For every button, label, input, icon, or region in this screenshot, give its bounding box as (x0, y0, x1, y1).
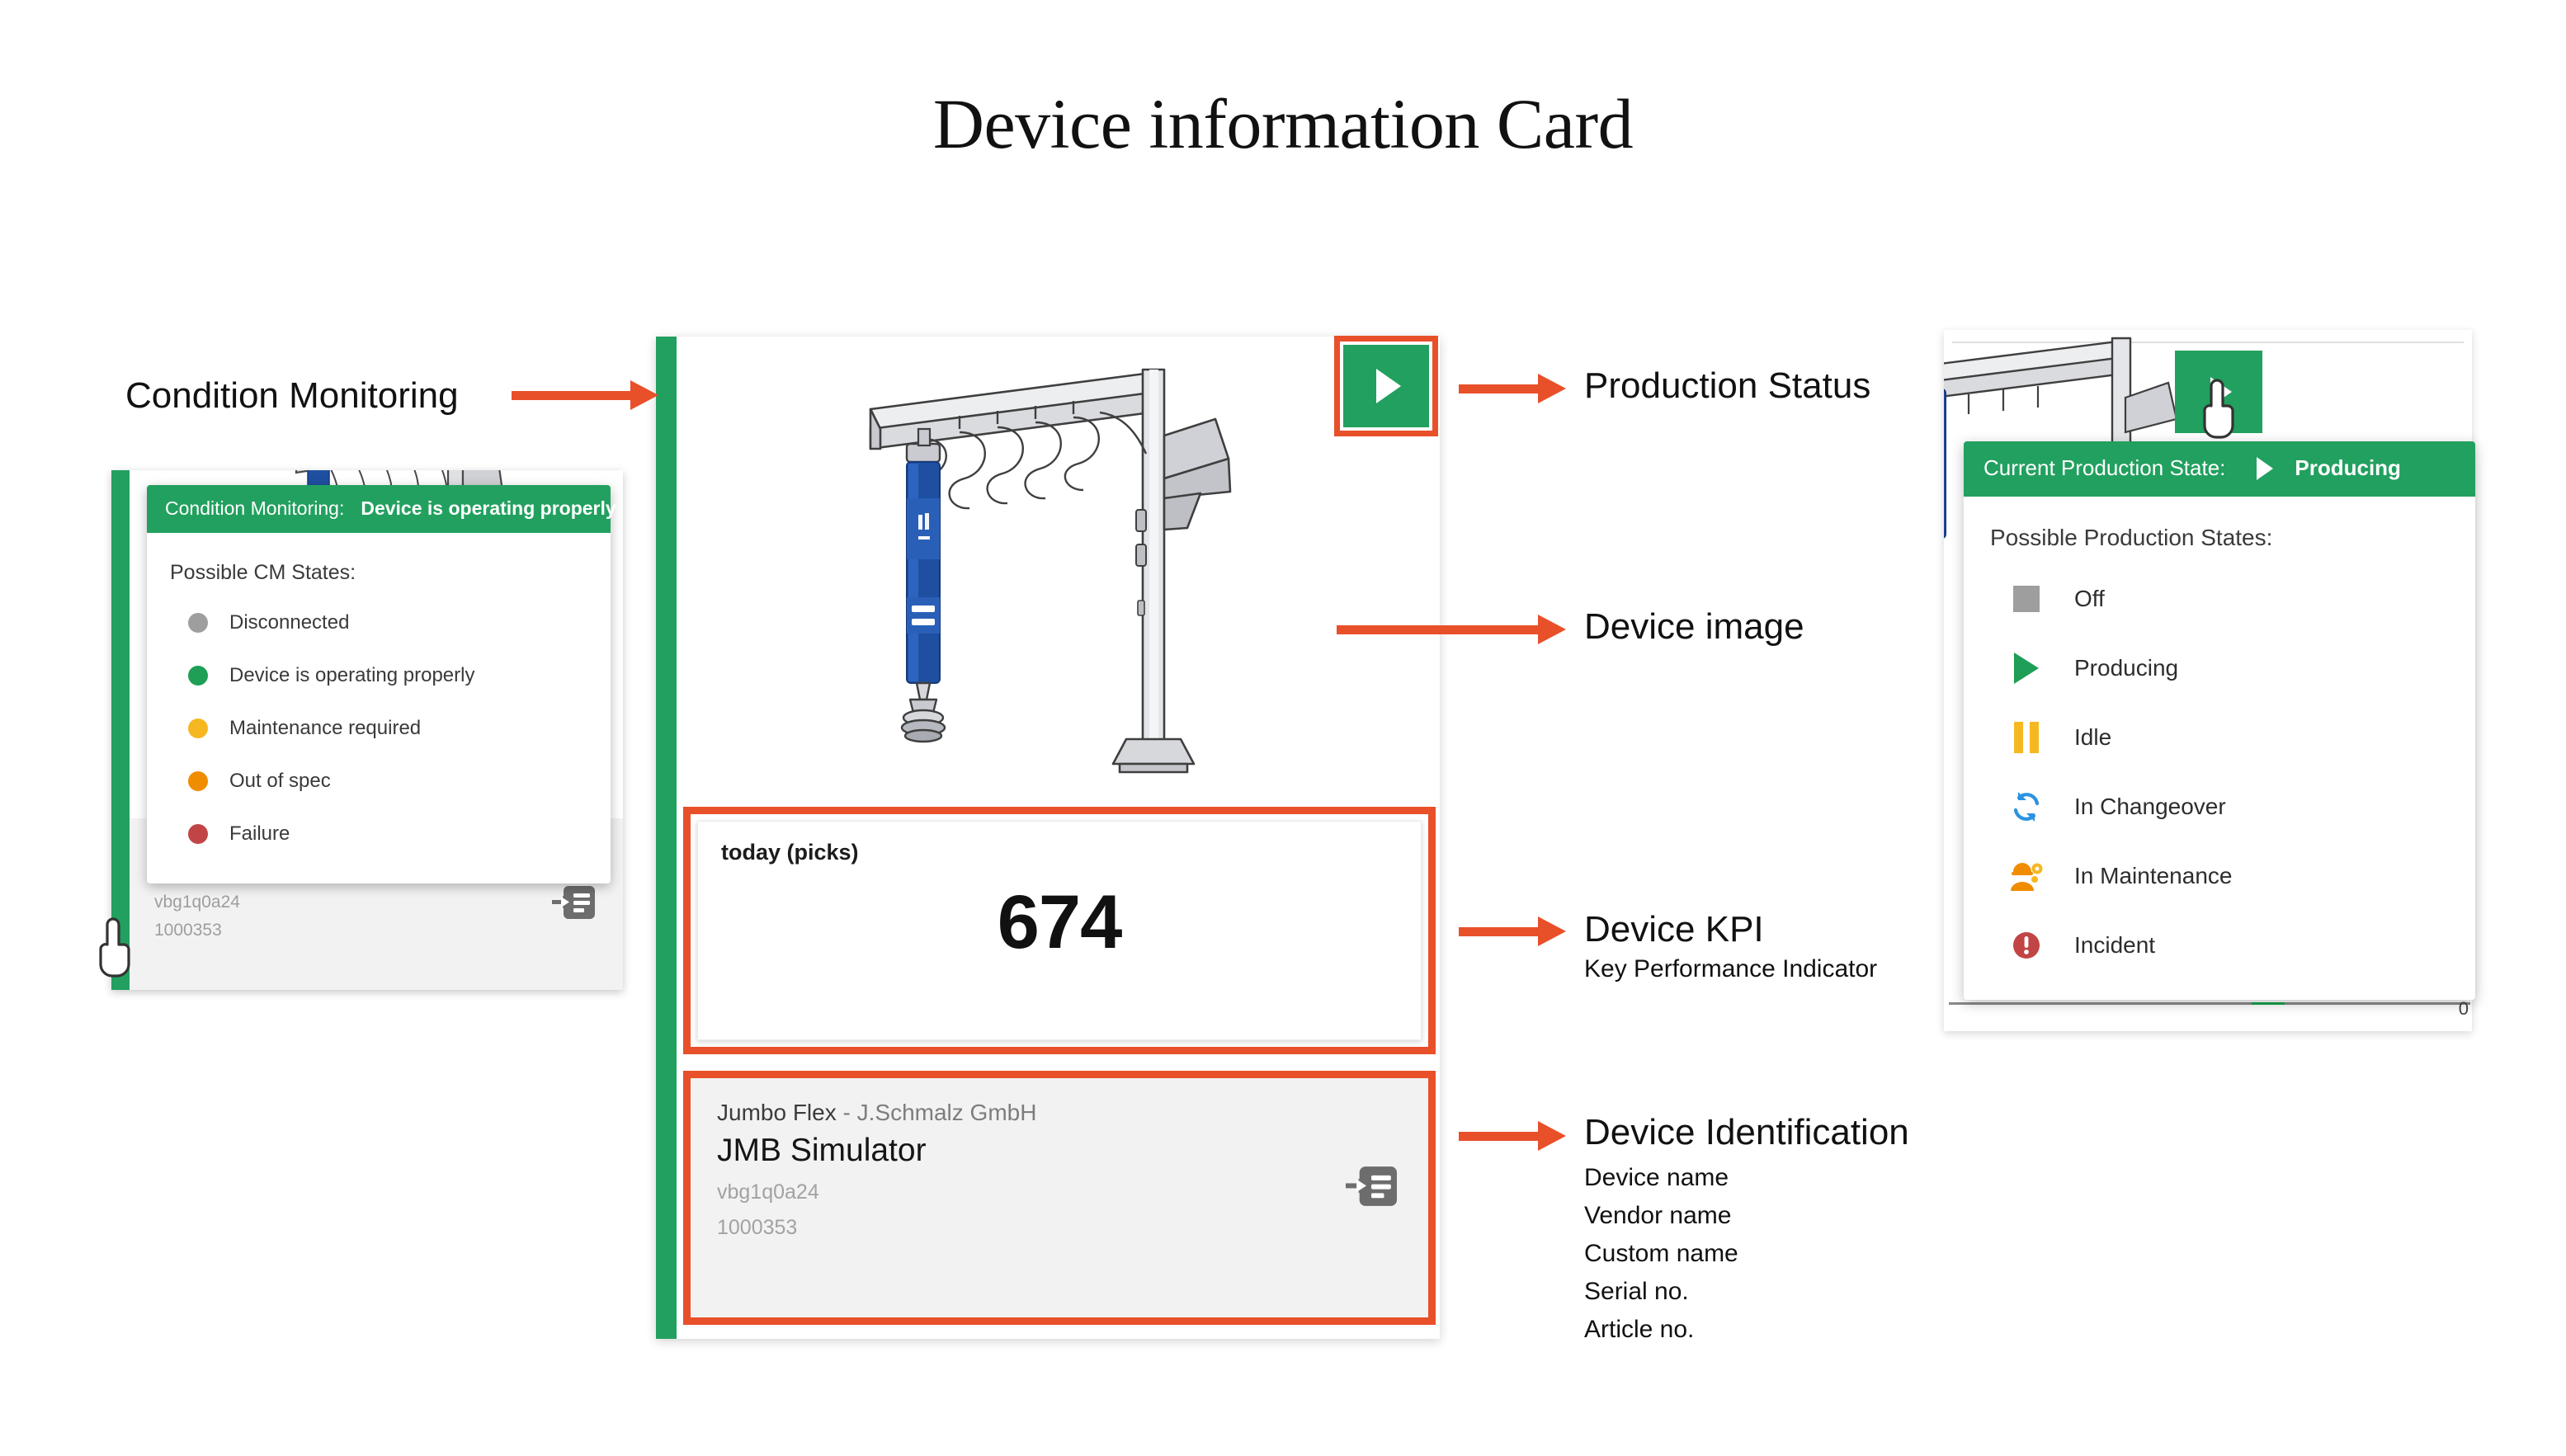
annotation-identification-line: Device name (1584, 1159, 1729, 1197)
worker-gear-icon (2008, 858, 2045, 894)
mouse-cursor-hand-icon (91, 912, 142, 982)
status-dot-icon (188, 613, 208, 633)
play-icon (1376, 369, 1401, 403)
annotation-identification-line: Vendor name (1584, 1197, 1731, 1235)
sync-icon (2008, 789, 2045, 825)
identification-model: Jumbo Flex (717, 1100, 837, 1125)
identification-separator: - (837, 1100, 857, 1125)
right-card-zero-label: 0 (2459, 998, 2469, 1020)
cm-state-label: Out of spec (229, 770, 331, 793)
play-icon (2008, 650, 2045, 686)
identification-article-no: 1000353 (717, 1216, 1428, 1240)
annotation-device-image: Device image (1584, 606, 1804, 648)
annotation-arrow-device-kpi (1459, 924, 1566, 939)
kpi-value: 674 (698, 879, 1421, 966)
annotation-production-status: Production Status (1584, 365, 1870, 407)
ps-state-row: Idle (1990, 703, 2475, 772)
cm-state-label: Device is operating properly (229, 664, 474, 687)
axis-line (1949, 1002, 2470, 1005)
ps-state-label: Off (2074, 586, 2105, 612)
square-icon (2008, 581, 2045, 617)
kpi-label: today (picks) (721, 840, 1421, 865)
status-dot-icon (188, 771, 208, 791)
annotation-device-identification: Device Identification (1584, 1112, 1909, 1153)
cm-popup-header: Condition Monitoring:Device is operating… (147, 485, 611, 533)
ps-state-label: Idle (2074, 724, 2111, 751)
ps-state-row: In Changeover (1990, 772, 2475, 841)
list-item-article-no: 1000353 (154, 921, 601, 940)
jumbo-flex-lifter-illustration (828, 353, 1290, 807)
ps-states-caption: Possible Production States: (1990, 525, 2475, 551)
ps-state-label: In Changeover (2074, 794, 2226, 820)
cm-state-row: Device is operating properly (170, 649, 611, 702)
annotation-device-kpi-sub: Key Performance Indicator (1584, 950, 1877, 988)
device-identification-highlight: Jumbo Flex - J.Schmalz GmbH JMB Simulato… (683, 1071, 1436, 1325)
ps-state-row: In Maintenance (1990, 841, 2475, 911)
cm-state-row: Failure (170, 808, 611, 860)
identification-custom-name: JMB Simulator (717, 1133, 1428, 1169)
device-kpi-tile[interactable]: today (picks) 674 (697, 821, 1422, 1040)
identification-serial-no: vbg1q0a24 (717, 1180, 1428, 1204)
status-dot-icon (188, 719, 208, 738)
page-title: Device information Card (0, 82, 2566, 165)
status-dot-icon (188, 666, 208, 686)
annotation-identification-line: Serial no. (1584, 1273, 1689, 1311)
cm-state-label: Failure (229, 822, 290, 846)
annotation-identification-line: Article no. (1584, 1311, 1694, 1349)
axis-green-segment (2252, 1002, 2285, 1005)
device-image-area (677, 337, 1440, 815)
ps-state-row: Off (1990, 564, 2475, 634)
cm-state-row: Maintenance required (170, 702, 611, 755)
pause-icon (2008, 719, 2045, 756)
production-status-button[interactable] (1343, 345, 1429, 427)
ps-state-row: Incident (1990, 911, 2475, 980)
production-status-highlight (1334, 336, 1438, 436)
device-details-icon[interactable] (552, 881, 595, 924)
identification-vendor: J.Schmalz GmbH (857, 1100, 1037, 1125)
annotation-arrow-device-image (1337, 622, 1566, 637)
device-kpi-highlight: today (picks) 674 (683, 807, 1436, 1054)
exclamation-circle-icon (2008, 927, 2045, 964)
ps-popup-body: Possible Production States: Off Producin… (1964, 497, 2475, 1000)
ps-state-label: Incident (2074, 932, 2155, 959)
condition-monitoring-status-bar[interactable] (656, 337, 677, 1339)
device-identification-tile[interactable]: Jumbo Flex - J.Schmalz GmbH JMB Simulato… (691, 1078, 1428, 1317)
ps-state-row: Producing (1990, 634, 2475, 703)
annotation-condition-monitoring: Condition Monitoring (125, 375, 459, 417)
cm-popup-header-value: Device is operating properly (361, 497, 616, 519)
cm-state-row: Disconnected (170, 596, 611, 649)
annotation-arrow-production-status (1459, 381, 1566, 396)
identification-vendor-line: Jumbo Flex - J.Schmalz GmbH (717, 1100, 1428, 1126)
ps-popup-header: Current Production State: Producing (1964, 441, 2475, 497)
ps-state-label: Producing (2074, 655, 2178, 681)
mouse-cursor-hand-icon (2195, 373, 2246, 444)
slide-canvas: Device information Card (0, 0, 2566, 1456)
annotation-identification-line: Custom name (1584, 1235, 1738, 1273)
ps-state-label: In Maintenance (2074, 863, 2232, 889)
annotation-arrow-device-identification (1459, 1129, 1566, 1143)
ps-popup-header-label: Current Production State: (1983, 455, 2225, 481)
cm-state-label: Disconnected (229, 611, 349, 634)
cm-popup-header-label: Condition Monitoring: (165, 497, 344, 519)
list-item-serial-no: vbg1q0a24 (154, 893, 601, 912)
annotation-arrow-condition-monitoring (512, 388, 658, 403)
play-icon (2257, 457, 2273, 480)
cm-state-row: Out of spec (170, 755, 611, 808)
ps-popup-header-value: Producing (2295, 455, 2401, 481)
device-details-icon[interactable] (1346, 1161, 1397, 1212)
production-states-popup: Current Production State: Producing Poss… (1964, 441, 2475, 1000)
condition-monitoring-popup: Condition Monitoring:Device is operating… (147, 485, 611, 883)
annotation-device-kpi: Device KPI (1584, 909, 1764, 950)
cm-state-label: Maintenance required (229, 717, 421, 740)
status-dot-icon (188, 824, 208, 844)
cm-popup-body: Possible CM States: Disconnected Device … (147, 533, 611, 883)
cm-states-caption: Possible CM States: (170, 561, 611, 585)
